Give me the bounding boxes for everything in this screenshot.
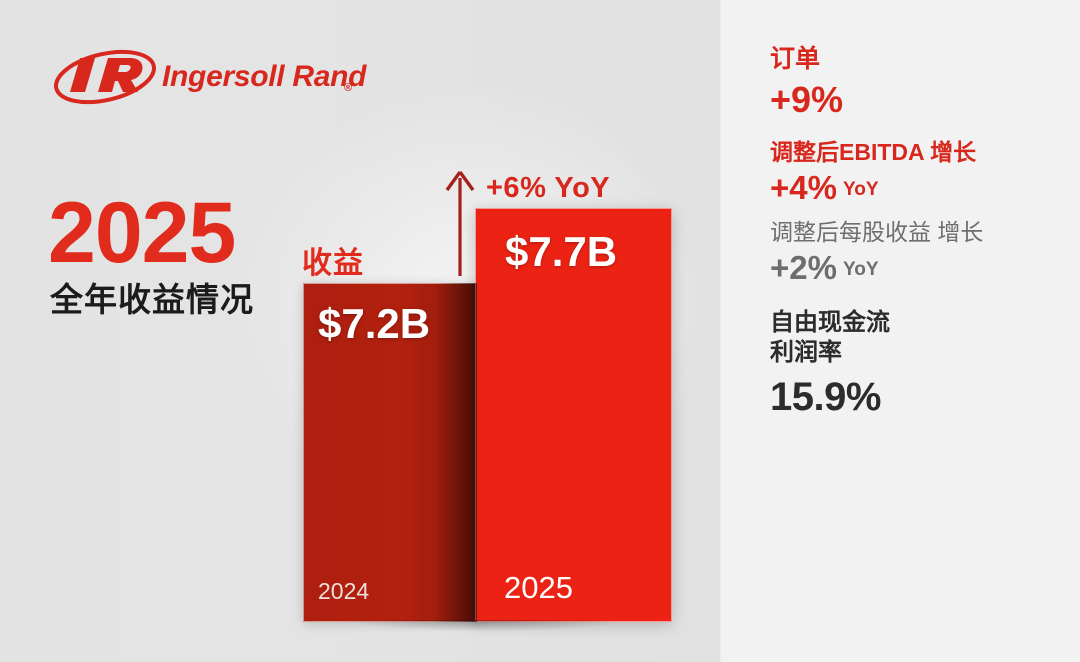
chart-annotation-yoy: +6% YoY: [486, 172, 610, 205]
bar-value-2025: $7.7B: [505, 228, 617, 276]
chart-title: 收益: [302, 238, 364, 282]
metric-free-cash-flow-margin: 自由现金流 利润率 15.9%: [770, 308, 1070, 420]
bar-value-2024: $7.2B: [318, 300, 430, 348]
bar-category-2025: 2025: [504, 570, 573, 606]
revenue-bar-chart: 收益 +6% YoY $7.2B $7.7B 2024 2025: [0, 0, 720, 662]
metric-orders-value: +9%: [770, 79, 1070, 120]
up-arrow-icon: [440, 168, 480, 278]
metrics-list: 订单 +9% 调整后EBITDA 增长 +4%YoY 调整后每股收益 增长 +2…: [770, 0, 1070, 662]
metric-adjusted-eps-suffix: YoY: [843, 259, 879, 280]
metric-adjusted-ebitda-value: +4%YoY: [770, 169, 1070, 207]
metric-adjusted-ebitda-number: +4%: [770, 169, 837, 206]
metric-adjusted-ebitda-title: 调整后EBITDA 增长: [770, 138, 1070, 167]
metric-adjusted-ebitda: 调整后EBITDA 增长 +4%YoY: [770, 138, 1070, 207]
metric-adjusted-eps-value: +2%YoY: [770, 249, 1070, 287]
metric-adjusted-eps-title: 调整后每股收益 增长: [770, 218, 1070, 247]
metric-orders-title: 订单: [770, 44, 1070, 75]
panel-divider: [720, 0, 722, 662]
metric-adjusted-eps-number: +2%: [770, 249, 837, 286]
bars-drop-shadow: [303, 620, 675, 646]
slide-canvas: Ingersoll Rand ® 2025 全年收益情况 收益 +6% YoY …: [0, 0, 1080, 662]
metric-fcf-title-line1: 自由现金流: [770, 308, 1070, 338]
metric-orders: 订单 +9%: [770, 44, 1070, 121]
metric-adjusted-ebitda-suffix: YoY: [843, 179, 879, 200]
bar-category-2024: 2024: [318, 578, 369, 605]
metric-fcf-value: 15.9%: [770, 374, 1070, 420]
metric-adjusted-eps: 调整后每股收益 增长 +2%YoY: [770, 218, 1070, 287]
metric-fcf-title-line2: 利润率: [770, 338, 1070, 368]
